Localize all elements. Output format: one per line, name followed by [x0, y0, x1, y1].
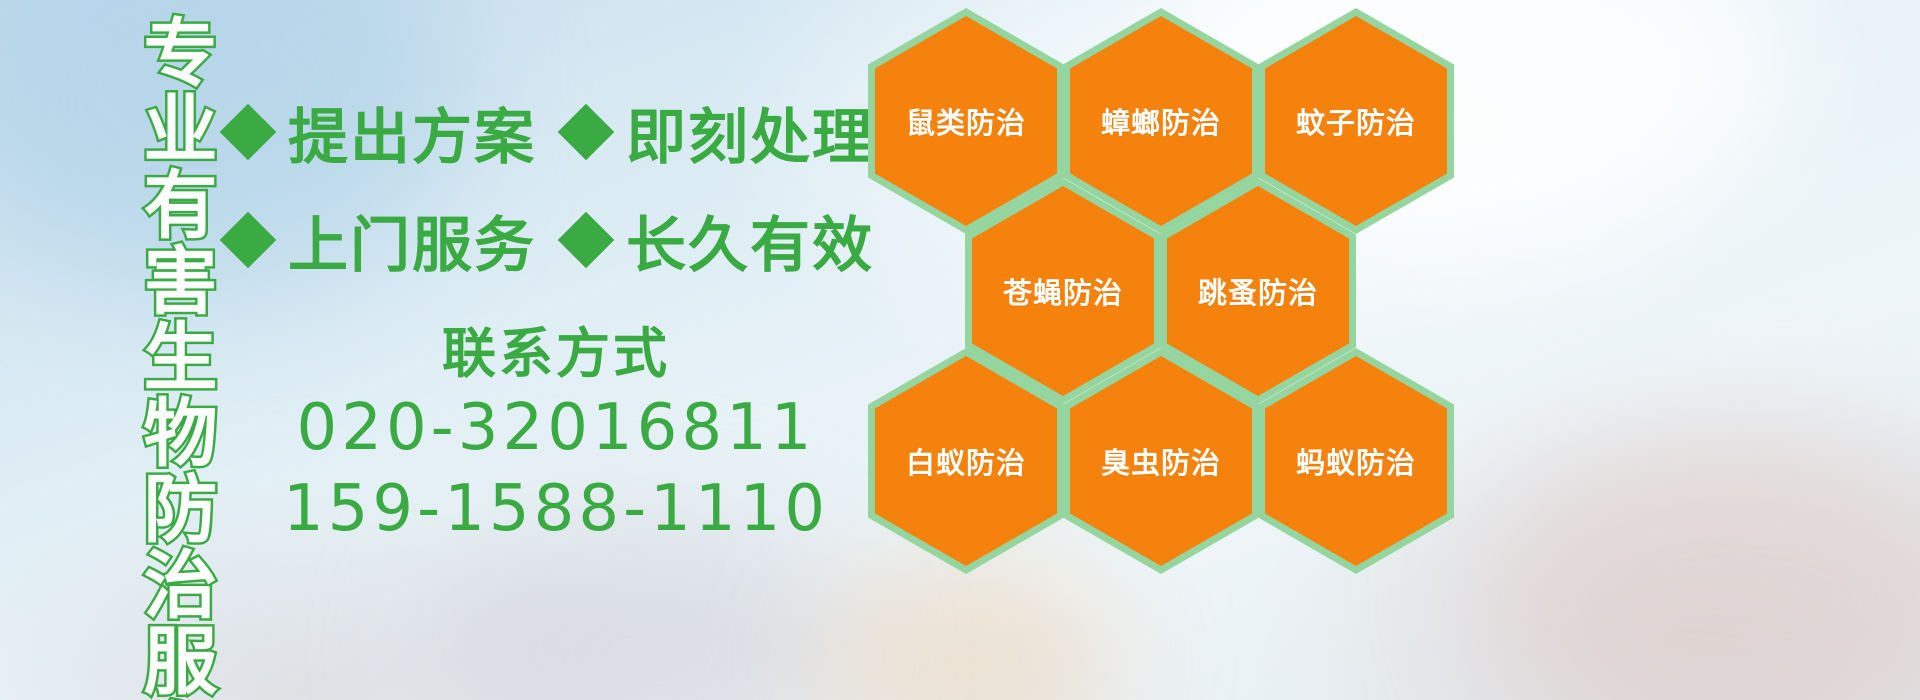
- feature-label: 提出方案: [288, 89, 536, 176]
- hexagon-inner: 臭虫防治: [1070, 356, 1252, 566]
- background-blob: [1480, 430, 1920, 700]
- vertical-headline: 专业有害生物防治服务: [107, 14, 211, 574]
- feature-label: 长久有效: [626, 197, 874, 284]
- diamond-icon: [220, 104, 277, 161]
- phone-number-landline[interactable]: 020-32016811: [236, 388, 876, 470]
- service-label: 蚂蚁防治: [1296, 440, 1416, 482]
- service-label: 白蚁防治: [906, 440, 1026, 482]
- service-hexagon-grid: 鼠类防治 蟑螂防治 蚊子防治 苍蝇防治 跳蚤防治 白蚁防治: [860, 0, 1460, 700]
- service-label: 苍蝇防治: [1003, 270, 1123, 312]
- hexagon-inner: 蚂蚁防治: [1265, 356, 1447, 566]
- hexagon-inner: 跳蚤防治: [1167, 186, 1349, 396]
- service-label: 蚊子防治: [1296, 100, 1416, 142]
- feature-label: 即刻处理: [626, 89, 874, 176]
- hexagon-inner: 白蚁防治: [875, 356, 1057, 566]
- feature-label: 上门服务: [288, 197, 536, 284]
- feature-item: 提出方案: [228, 89, 536, 176]
- feature-row: 上门服务 长久有效: [228, 186, 868, 294]
- hexagon-inner: 苍蝇防治: [972, 186, 1154, 396]
- feature-row: 提出方案 即刻处理: [228, 78, 868, 186]
- feature-item: 长久有效: [566, 197, 874, 284]
- diamond-icon: [558, 104, 615, 161]
- contact-block: 联系方式 020-32016811 159-1588-1110: [236, 320, 876, 551]
- service-label: 鼠类防治: [906, 100, 1026, 142]
- hexagon-inner: 蟑螂防治: [1070, 16, 1252, 226]
- feature-item: 上门服务: [228, 197, 536, 284]
- service-label: 跳蚤防治: [1198, 270, 1318, 312]
- feature-item: 即刻处理: [566, 89, 874, 176]
- service-label: 蟑螂防治: [1101, 100, 1221, 142]
- hexagon-inner: 蚊子防治: [1265, 16, 1447, 226]
- diamond-icon: [558, 212, 615, 269]
- service-label: 臭虫防治: [1101, 440, 1221, 482]
- hexagon-inner: 鼠类防治: [875, 16, 1057, 226]
- contact-title: 联系方式: [236, 320, 876, 388]
- phone-number-mobile[interactable]: 159-1588-1110: [236, 469, 876, 551]
- feature-list: 提出方案 即刻处理 上门服务 长久有效: [228, 78, 868, 294]
- pest-control-banner: 专业有害生物防治服务 提出方案 即刻处理 上门服务 长久有效: [0, 0, 1920, 700]
- diamond-icon: [220, 212, 277, 269]
